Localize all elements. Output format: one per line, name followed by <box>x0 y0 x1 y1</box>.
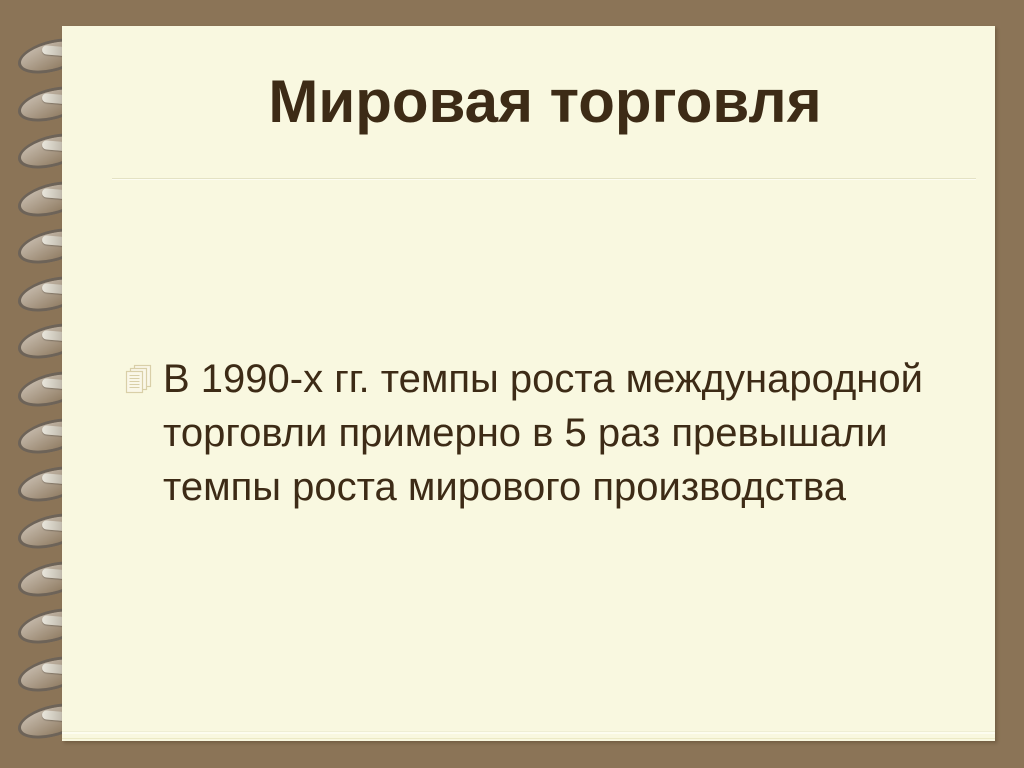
page-edge-highlight <box>62 731 995 734</box>
title-block: Мировая торговля <box>112 70 978 133</box>
stacked-documents-icon <box>123 363 155 395</box>
list-item-label: В 1990-х гг. темпы роста международной т… <box>163 352 983 514</box>
list-item: В 1990-х гг. темпы роста международной т… <box>123 352 983 514</box>
page-edge-shadow <box>62 738 995 739</box>
body-content: В 1990-х гг. темпы роста международной т… <box>123 352 983 514</box>
slide-canvas: Мировая торговля <box>0 0 1024 768</box>
title-divider <box>112 178 976 179</box>
page-title: Мировая торговля <box>112 70 978 133</box>
